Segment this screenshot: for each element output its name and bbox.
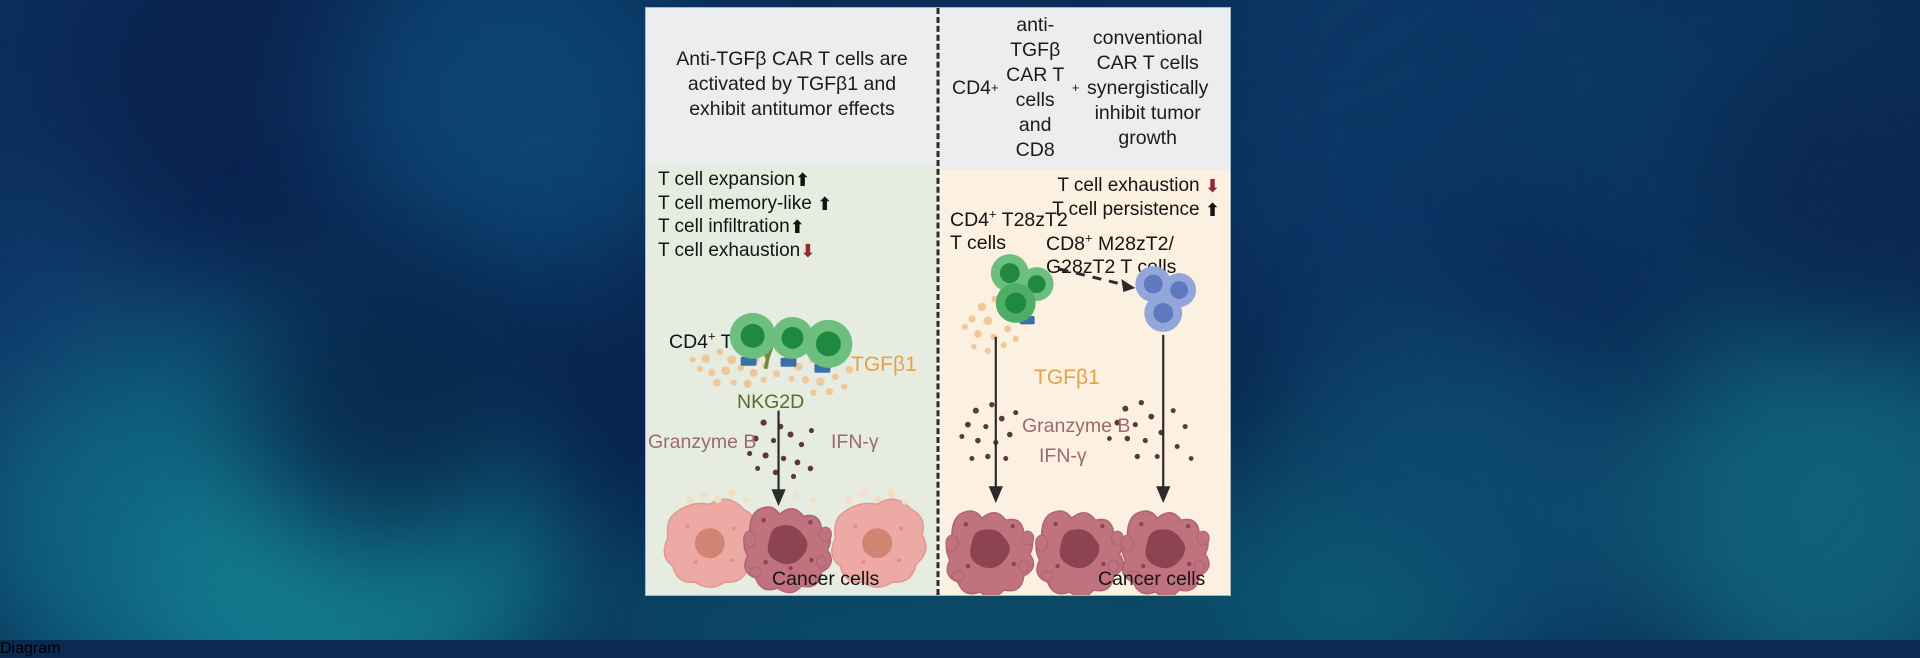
panel-left-granzyme-b-label: Granzyme B [648, 431, 756, 454]
panel-divider [937, 8, 940, 595]
graphical-abstract-figure: Anti-TGFβ CAR T cells are activated by T… [645, 7, 1231, 596]
effector-molecule-dots-left [959, 402, 1018, 461]
cd4-t-cell-cluster [991, 254, 1054, 323]
panel-right: CD4+ anti-TGFβ CAR T cells and CD8+ conv… [938, 8, 1230, 595]
panel-right-ifng-label: IFN-γ [1039, 445, 1087, 468]
effector-molecule-dots [747, 419, 814, 478]
cd8-t-cell-cluster [1135, 266, 1196, 332]
panel-left: Anti-TGFβ CAR T cells are activated by T… [646, 8, 938, 595]
panel-left-ifng-label: IFN-γ [831, 431, 879, 454]
panel-right-granzyme-b-label: Granzyme B [1022, 415, 1130, 438]
panel-left-cell-diagram [646, 8, 938, 595]
screenshot-stage: Anti-TGFβ CAR T cells are activated by T… [0, 0, 1920, 640]
panel-right-cancer-cells-label: Cancer cells [1098, 568, 1205, 591]
panel-right-cell-diagram [938, 8, 1230, 595]
panel-left-tgfb1-label: TGFβ1 [851, 353, 917, 377]
panel-left-nkg2d-label: NKG2D [737, 391, 804, 414]
tumor-debris-dots [686, 489, 909, 505]
synergy-dashed-arrow [1060, 269, 1136, 292]
panel-right-tgfb1-label: TGFβ1 [1034, 366, 1100, 390]
cancer-cell-apoptotic-1 [946, 511, 1034, 595]
panel-left-cancer-cells-label: Cancer cells [772, 568, 879, 591]
